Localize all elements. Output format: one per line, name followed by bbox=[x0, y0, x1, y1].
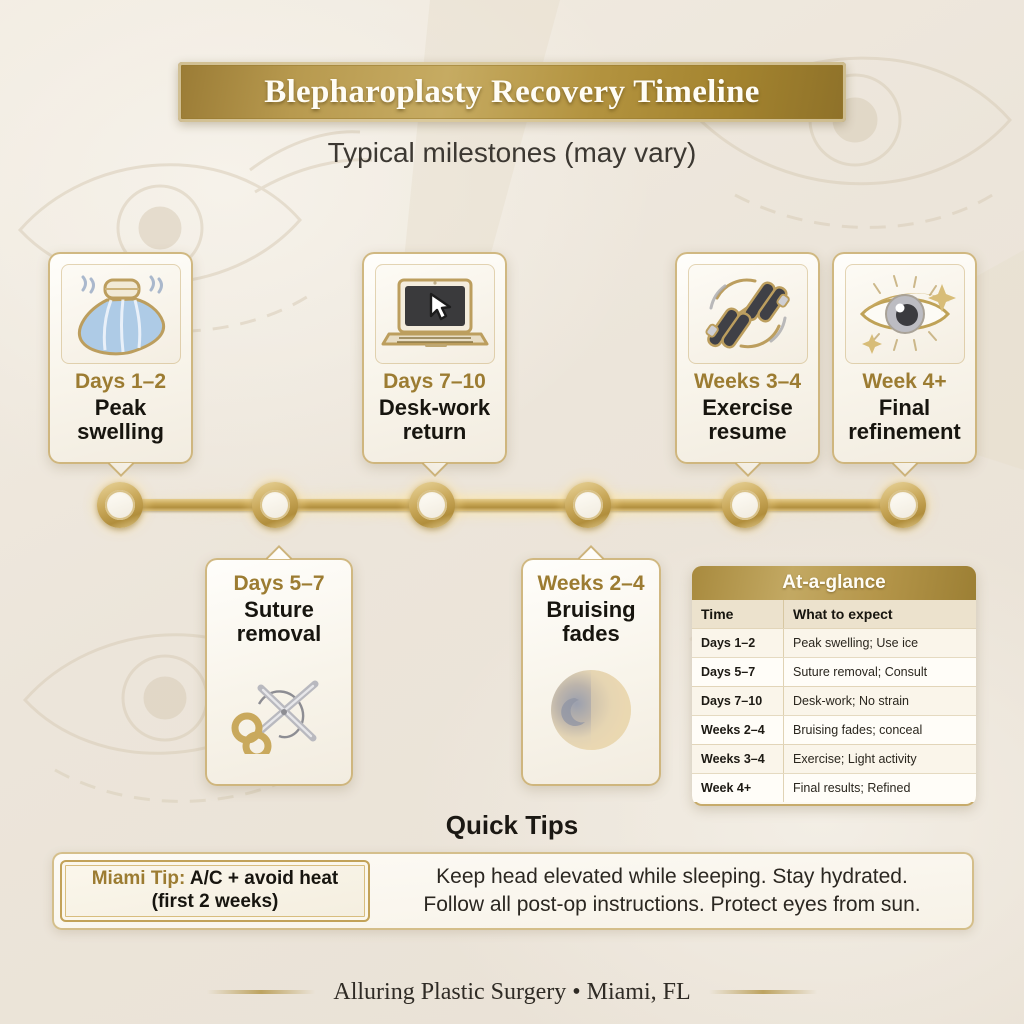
card-pointer bbox=[422, 463, 448, 479]
quick-tips-line-2: Follow all post-op instructions. Protect… bbox=[382, 891, 962, 919]
milestone-card-exercise[interactable]: Weeks 3–4 Exercise resume bbox=[675, 252, 820, 464]
milestone-label: Desk-work return bbox=[362, 396, 507, 444]
miami-tip-text: Miami Tip: A/C + avoid heat (first 2 wee… bbox=[60, 868, 370, 914]
miami-tip-box: Miami Tip: A/C + avoid heat (first 2 wee… bbox=[60, 860, 370, 922]
milestone-label: Bruising fades bbox=[521, 598, 661, 646]
eye-icon bbox=[850, 268, 960, 360]
table-row: Week 4+ Final results; Refined bbox=[692, 773, 976, 802]
footer-rule-left bbox=[207, 990, 315, 994]
cell-expect: Final results; Refined bbox=[784, 774, 976, 802]
cell-expect: Exercise; Light activity bbox=[784, 745, 976, 773]
laptop-icon bbox=[381, 272, 489, 356]
milestone-card-peak-swelling[interactable]: Days 1–2 Peak swelling bbox=[48, 252, 193, 464]
at-a-glance-title: At-a-glance bbox=[692, 566, 976, 600]
milestone-period: Days 5–7 bbox=[205, 572, 353, 596]
ice-pack-icon bbox=[69, 270, 173, 358]
bruise-icon-tile bbox=[536, 658, 646, 758]
milestone-period: Weeks 2–4 bbox=[521, 572, 661, 596]
ice-pack-icon-tile bbox=[61, 264, 181, 364]
miami-tip-label: Miami Tip: bbox=[92, 868, 186, 889]
dumbbell-icon bbox=[695, 268, 801, 360]
card-pointer bbox=[266, 543, 292, 559]
milestone-period: Days 7–10 bbox=[362, 370, 507, 394]
page-title: Blepharoplasty Recovery Timeline bbox=[264, 74, 759, 111]
card-pointer bbox=[735, 463, 761, 479]
milestone-label: Suture removal bbox=[205, 598, 353, 646]
table-row: Weeks 2–4 Bruising fades; conceal bbox=[692, 715, 976, 744]
node-inner-dot bbox=[730, 490, 760, 520]
node-inner-dot bbox=[888, 490, 918, 520]
footer: Alluring Plastic Surgery • Miami, FL bbox=[0, 972, 1024, 1012]
dumbbell-icon-tile bbox=[688, 264, 808, 364]
table-row: Weeks 3–4 Exercise; Light activity bbox=[692, 744, 976, 773]
cell-time: Days 1–2 bbox=[692, 629, 784, 657]
milestone-period: Week 4+ bbox=[832, 370, 977, 394]
column-header-expect: What to expect bbox=[784, 600, 976, 628]
cell-time: Days 5–7 bbox=[692, 658, 784, 686]
quick-tips-bar: Miami Tip: A/C + avoid heat (first 2 wee… bbox=[52, 852, 974, 930]
timeline-node-6[interactable] bbox=[880, 482, 926, 528]
timeline-node-4[interactable] bbox=[565, 482, 611, 528]
bruise-icon bbox=[541, 658, 641, 758]
column-header-time: Time bbox=[692, 600, 784, 628]
milestone-card-suture-removal[interactable]: Days 5–7 Suture removal bbox=[205, 558, 353, 786]
timeline-node-3[interactable] bbox=[409, 482, 455, 528]
quick-tips-body: Keep head elevated while sleeping. Stay … bbox=[370, 863, 974, 920]
milestone-label: Peak swelling bbox=[48, 396, 193, 444]
timeline-node-1[interactable] bbox=[97, 482, 143, 528]
timeline-node-2[interactable] bbox=[252, 482, 298, 528]
quick-tips-line-1: Keep head elevated while sleeping. Stay … bbox=[382, 863, 962, 891]
cell-time: Week 4+ bbox=[692, 774, 784, 802]
card-pointer bbox=[108, 463, 134, 479]
table-row: Days 5–7 Suture removal; Consult bbox=[692, 657, 976, 686]
infographic-canvas: Blepharoplasty Recovery Timeline Typical… bbox=[0, 0, 1024, 1024]
table-row: Days 7–10 Desk-work; No strain bbox=[692, 686, 976, 715]
milestone-card-bruising[interactable]: Weeks 2–4 Bruising fades bbox=[521, 558, 661, 786]
quick-tips-title: Quick Tips bbox=[0, 810, 1024, 841]
eye-icon-tile bbox=[845, 264, 965, 364]
cell-expect: Bruising fades; conceal bbox=[784, 716, 976, 744]
milestone-period: Days 1–2 bbox=[48, 370, 193, 394]
cell-time: Days 7–10 bbox=[692, 687, 784, 715]
at-a-glance-table: At-a-glance Time What to expect Days 1–2… bbox=[692, 566, 976, 806]
milestone-label: Final refinement bbox=[832, 396, 977, 444]
node-inner-dot bbox=[105, 490, 135, 520]
milestone-card-final-refinement[interactable]: Week 4+ Final refinement bbox=[832, 252, 977, 464]
cell-expect: Suture removal; Consult bbox=[784, 658, 976, 686]
milestone-card-desk-work[interactable]: Days 7–10 Desk-work return bbox=[362, 252, 507, 464]
cell-expect: Desk-work; No strain bbox=[784, 687, 976, 715]
card-pointer bbox=[892, 463, 918, 479]
scissors-icon bbox=[223, 662, 335, 754]
table-header-row: Time What to expect bbox=[692, 600, 976, 628]
node-inner-dot bbox=[573, 490, 603, 520]
timeline-rail bbox=[112, 499, 912, 511]
card-pointer bbox=[578, 543, 604, 559]
cell-time: Weeks 3–4 bbox=[692, 745, 784, 773]
page-subtitle: Typical milestones (may vary) bbox=[0, 137, 1024, 169]
laptop-icon-tile bbox=[375, 264, 495, 364]
footer-rule-right bbox=[709, 990, 817, 994]
milestone-label: Exercise resume bbox=[675, 396, 820, 444]
timeline-node-5[interactable] bbox=[722, 482, 768, 528]
cell-time: Weeks 2–4 bbox=[692, 716, 784, 744]
page-title-banner: Blepharoplasty Recovery Timeline bbox=[178, 62, 846, 122]
cell-expect: Peak swelling; Use ice bbox=[784, 629, 976, 657]
footer-text: Alluring Plastic Surgery • Miami, FL bbox=[333, 979, 690, 1006]
node-inner-dot bbox=[260, 490, 290, 520]
node-inner-dot bbox=[417, 490, 447, 520]
milestone-period: Weeks 3–4 bbox=[675, 370, 820, 394]
table-row: Days 1–2 Peak swelling; Use ice bbox=[692, 628, 976, 657]
scissors-icon-tile bbox=[217, 658, 341, 758]
